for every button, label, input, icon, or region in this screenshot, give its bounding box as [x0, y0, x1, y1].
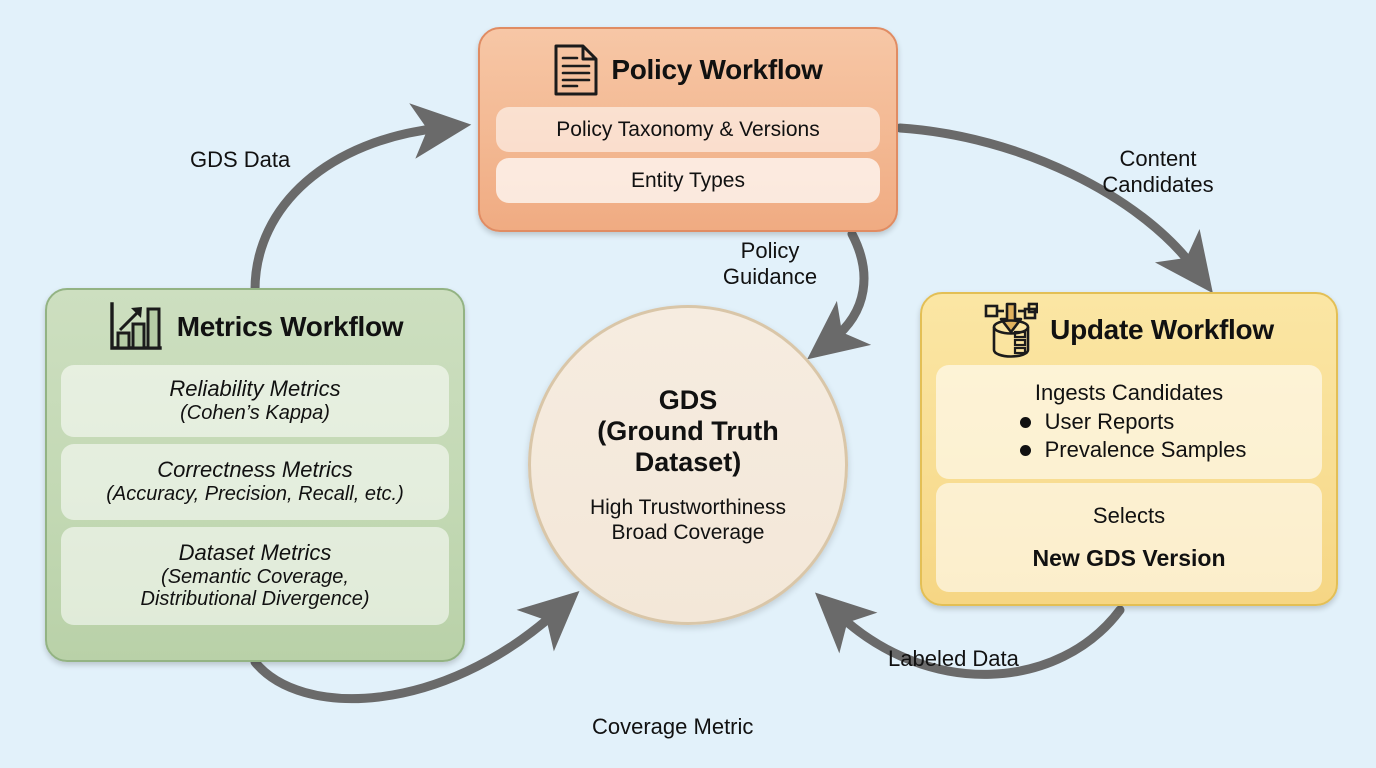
bullet-icon — [1020, 445, 1031, 456]
policy-item-taxonomy[interactable]: Policy Taxonomy & Versions — [496, 107, 880, 152]
update-ingest-panel[interactable]: Ingests Candidates User Reports Prevalen… — [936, 365, 1322, 479]
update-ingest-bullet-0: User Reports — [1045, 408, 1175, 436]
policy-item-entity-types[interactable]: Entity Types — [496, 158, 880, 203]
arrow-policy-guidance — [832, 234, 864, 340]
document-icon — [553, 43, 599, 97]
policy-item-entity-types-label: Entity Types — [631, 169, 745, 193]
list-item[interactable]: User Reports — [1012, 408, 1247, 436]
update-selects-value: New GDS Version — [1032, 545, 1225, 572]
update-ingest-bullet-1: Prevalence Samples — [1045, 436, 1247, 464]
bullet-icon — [1020, 417, 1031, 428]
update-selects-panel[interactable]: Selects New GDS Version — [936, 483, 1322, 592]
update-ingest-list: User Reports Prevalence Samples — [1012, 408, 1247, 464]
update-workflow-card[interactable]: Update Workflow Ingests Candidates User … — [920, 292, 1338, 606]
gds-node[interactable]: GDS (Ground Truth Dataset) High Trustwor… — [528, 305, 848, 625]
metrics-item-correctness-detail: (Accuracy, Precision, Recall, etc.) — [106, 483, 404, 505]
update-workflow-header: Update Workflow — [936, 298, 1322, 361]
gds-subtitle: High Trustworthiness Broad Coverage — [590, 495, 786, 545]
list-item[interactable]: Prevalence Samples — [1012, 436, 1247, 464]
metrics-item-reliability[interactable]: Reliability Metrics (Cohen’s Kappa) — [61, 365, 449, 437]
edge-label-content-candidates: Content Candidates — [1088, 146, 1228, 198]
edge-label-gds-data: GDS Data — [190, 147, 290, 173]
metrics-workflow-card[interactable]: Metrics Workflow Reliability Metrics (Co… — [45, 288, 465, 662]
update-selects-heading: Selects — [1093, 503, 1165, 529]
update-ingest-heading: Ingests Candidates — [1035, 380, 1223, 406]
edge-label-coverage-metric: Coverage Metric — [592, 714, 753, 740]
metrics-workflow-header: Metrics Workflow — [61, 296, 449, 358]
diagram-canvas: Policy Workflow Policy Taxonomy & Versio… — [0, 0, 1376, 768]
metrics-item-correctness-name: Correctness Metrics — [157, 458, 353, 483]
edge-label-labeled-data: Labeled Data — [888, 646, 1019, 672]
metrics-workflow-title: Metrics Workflow — [177, 311, 404, 343]
policy-item-taxonomy-label: Policy Taxonomy & Versions — [556, 118, 819, 142]
metrics-item-dataset-name: Dataset Metrics — [179, 541, 332, 566]
metrics-item-dataset[interactable]: Dataset Metrics (Semantic Coverage, Dist… — [61, 527, 449, 625]
metrics-item-dataset-detail: (Semantic Coverage, Distributional Diver… — [141, 566, 370, 611]
edge-label-policy-guidance: Policy Guidance — [712, 238, 828, 290]
gds-title: GDS (Ground Truth Dataset) — [597, 385, 778, 479]
metrics-item-reliability-detail: (Cohen’s Kappa) — [180, 402, 330, 424]
update-workflow-title: Update Workflow — [1050, 314, 1274, 346]
policy-workflow-card[interactable]: Policy Workflow Policy Taxonomy & Versio… — [478, 27, 898, 232]
database-import-icon — [984, 301, 1038, 359]
metrics-item-correctness[interactable]: Correctness Metrics (Accuracy, Precision… — [61, 444, 449, 520]
bar-chart-icon — [107, 301, 163, 353]
policy-workflow-header: Policy Workflow — [496, 39, 880, 101]
metrics-item-reliability-name: Reliability Metrics — [169, 377, 340, 402]
policy-workflow-title: Policy Workflow — [611, 54, 822, 86]
